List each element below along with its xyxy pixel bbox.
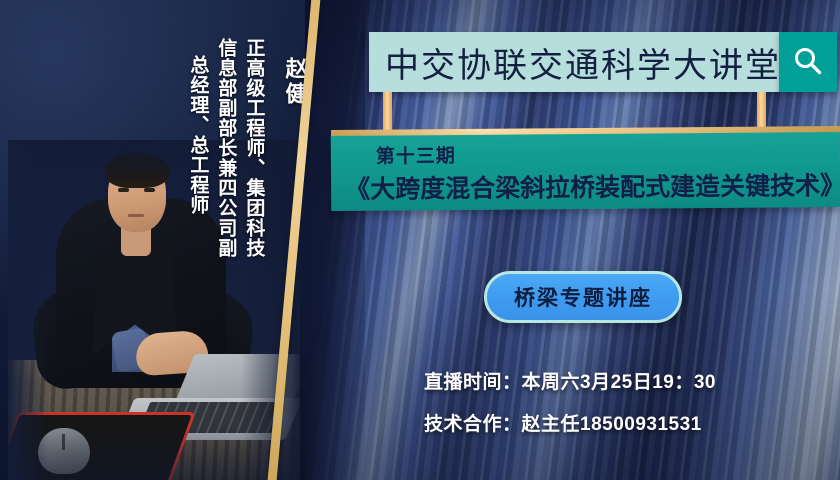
technical-contact-info: 技术合作：赵主任18500931531: [424, 409, 702, 436]
gold-connector-left: [383, 92, 392, 134]
poster-canvas: 赵健 正高级工程师、集团科技 信息部副部长兼四公司副 总经理、总工程师 中交协联…: [0, 0, 840, 480]
topic-badge-label: 桥梁专题讲座: [514, 282, 652, 312]
issue-number-label: 第十三期: [376, 141, 456, 169]
speaker-credential-2: 信息部副部长兼四公司副: [216, 38, 235, 258]
lecture-title: 《大跨度混合梁斜拉桥装配式建造关键技术》: [345, 166, 840, 206]
broadcast-time-info: 直播时间：本周六3月25日19：30: [424, 367, 716, 394]
search-button[interactable]: [779, 32, 837, 92]
speaker-credential-1: 正高级工程师、集团科技: [244, 38, 263, 258]
topic-badge[interactable]: 桥梁专题讲座: [484, 271, 682, 323]
brand-title-bar: 中交协联交通科学大讲堂: [369, 32, 779, 92]
subtitle-panel: 第十三期 《大跨度混合梁斜拉桥装配式建造关键技术》: [331, 132, 840, 211]
search-icon: [791, 45, 825, 79]
brand-title-text: 中交协联交通科学大讲堂: [369, 38, 781, 87]
speaker-credential-3: 总经理、总工程师: [188, 55, 207, 215]
